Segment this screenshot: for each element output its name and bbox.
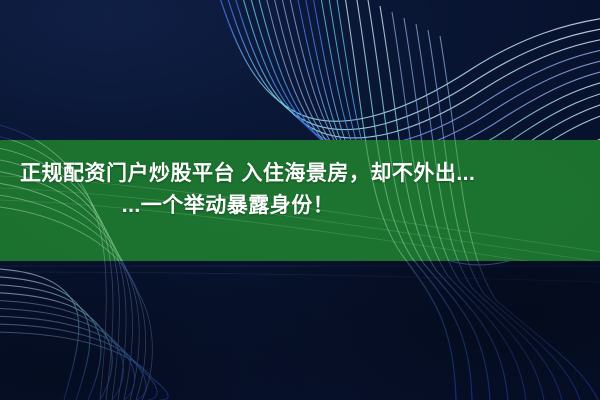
headline-line-1: 正规配资门户炒股平台 入住海景房，却不外出... <box>20 158 586 190</box>
headline-text: 正规配资门户炒股平台 入住海景房，却不外出... ...一个举动暴露身份！ <box>0 140 600 261</box>
promo-banner: 正规配资门户炒股平台 入住海景房，却不外出... ...一个举动暴露身份！ <box>0 0 600 400</box>
headline-line-2: ...一个举动暴露身份！ <box>20 190 586 222</box>
